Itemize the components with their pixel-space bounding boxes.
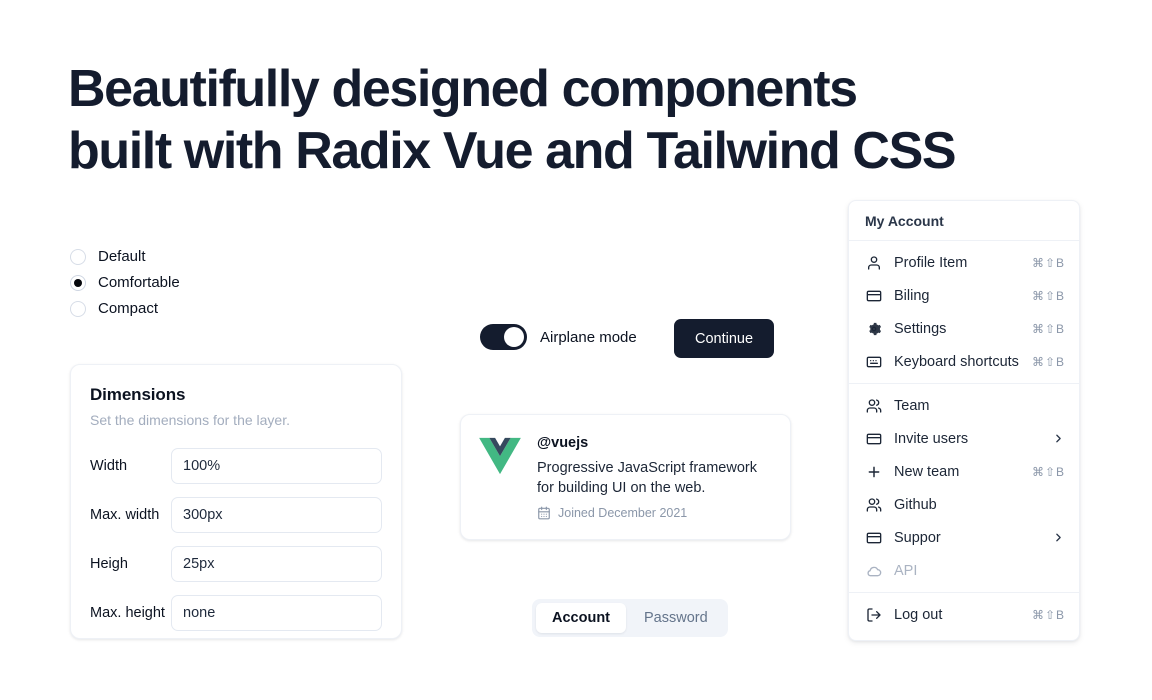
field-label: Max. width <box>90 507 171 523</box>
menu-item-keyboard-shortcuts[interactable]: Keyboard shortcuts ⌘⇧B <box>849 345 1079 378</box>
dimensions-row-max-height: Max. height <box>90 595 382 631</box>
vue-logo-icon <box>479 437 521 475</box>
menu-item-github[interactable]: Github <box>849 488 1079 521</box>
dimensions-field-list: Width Max. width Heigh Max. height <box>90 448 382 631</box>
menu-item-shortcut: ⌘⇧B <box>1032 256 1065 270</box>
radio-circle-checked-icon[interactable] <box>70 275 86 291</box>
menu-item-shortcut: ⌘⇧B <box>1032 608 1065 622</box>
field-label: Width <box>90 458 171 474</box>
menu-item-label: Keyboard shortcuts <box>894 354 1020 370</box>
users-icon <box>865 397 882 414</box>
dimensions-card: Dimensions Set the dimensions for the la… <box>70 364 402 639</box>
keyboard-icon <box>865 353 882 370</box>
menu-item-label: Invite users <box>894 431 1040 447</box>
radio-circle-icon[interactable] <box>70 249 86 265</box>
menu-item-invite-users[interactable]: Invite users <box>849 422 1079 455</box>
radio-option-default[interactable]: Default <box>70 248 180 265</box>
plus-icon <box>865 463 882 480</box>
page-title: Beautifully designed components built wi… <box>68 58 1028 182</box>
radio-option-label: Compact <box>98 300 158 317</box>
credit-card-icon <box>865 287 882 304</box>
hover-card-body: @vuejs Progressive JavaScript framework … <box>537 435 772 519</box>
radio-option-compact[interactable]: Compact <box>70 300 180 317</box>
page-title-line-2: built with Radix Vue and Tailwind CSS <box>68 120 1028 182</box>
menu-group-team: Team Invite users New team ⌘⇧B <box>849 384 1079 592</box>
airplane-mode-row: Airplane mode <box>480 324 637 350</box>
menu-item-label: Biling <box>894 288 1020 304</box>
menu-item-shortcut: ⌘⇧B <box>1032 465 1065 479</box>
user-icon <box>865 254 882 271</box>
menu-item-label: Profile Item <box>894 255 1020 271</box>
menu-item-new-team[interactable]: New team ⌘⇧B <box>849 455 1079 488</box>
max-height-input[interactable] <box>171 595 382 631</box>
menu-item-label: Github <box>894 497 1053 513</box>
settings-tabs: Account Password <box>532 599 728 637</box>
account-dropdown-menu: My Account Profile Item ⌘⇧B Biling ⌘⇧B <box>848 200 1080 641</box>
menu-item-shortcut: ⌘⇧B <box>1032 289 1065 303</box>
menu-item-profile[interactable]: Profile Item ⌘⇧B <box>849 246 1079 279</box>
chevron-right-icon <box>1052 432 1065 445</box>
tab-account[interactable]: Account <box>536 603 626 633</box>
field-label: Heigh <box>90 556 171 572</box>
menu-group-account: Profile Item ⌘⇧B Biling ⌘⇧B Settings ⌘⇧B <box>849 241 1079 383</box>
radio-option-comfortable[interactable]: Comfortable <box>70 274 180 291</box>
vuejs-hover-card: @vuejs Progressive JavaScript framework … <box>460 414 791 540</box>
menu-item-billing[interactable]: Biling ⌘⇧B <box>849 279 1079 312</box>
chevron-right-icon <box>1052 531 1065 544</box>
calendar-icon <box>537 506 551 520</box>
continue-button[interactable]: Continue <box>674 319 774 358</box>
dimensions-row-width: Width <box>90 448 382 484</box>
credit-card-icon <box>865 529 882 546</box>
airplane-mode-switch[interactable] <box>480 324 527 350</box>
menu-item-team[interactable]: Team <box>849 389 1079 422</box>
menu-item-api: API <box>849 554 1079 587</box>
radio-option-label: Default <box>98 248 146 265</box>
width-input[interactable] <box>171 448 382 484</box>
switch-knob <box>504 327 524 347</box>
dimensions-row-height: Heigh <box>90 546 382 582</box>
menu-item-shortcut: ⌘⇧B <box>1032 355 1065 369</box>
menu-item-log-out[interactable]: Log out ⌘⇧B <box>849 598 1079 631</box>
menu-item-support[interactable]: Suppor <box>849 521 1079 554</box>
vuejs-description: Progressive JavaScript framework for bui… <box>537 458 772 498</box>
menu-item-settings[interactable]: Settings ⌘⇧B <box>849 312 1079 345</box>
airplane-mode-label: Airplane mode <box>540 329 637 346</box>
height-input[interactable] <box>171 546 382 582</box>
logout-icon <box>865 606 882 623</box>
menu-group-session: Log out ⌘⇧B <box>849 593 1079 636</box>
menu-item-label: API <box>894 563 1053 579</box>
page-root: Beautifully designed components built wi… <box>0 0 1152 700</box>
menu-item-label: Log out <box>894 607 1020 623</box>
joined-row: Joined December 2021 <box>537 506 772 520</box>
joined-text: Joined December 2021 <box>558 506 687 520</box>
cloud-icon <box>865 562 882 579</box>
gear-icon <box>865 320 882 337</box>
tab-password[interactable]: Password <box>628 603 724 633</box>
radio-circle-icon[interactable] <box>70 301 86 317</box>
menu-header: My Account <box>849 201 1079 240</box>
menu-item-label: Team <box>894 398 1053 414</box>
menu-item-label: Settings <box>894 321 1020 337</box>
credit-card-icon <box>865 430 882 447</box>
field-label: Max. height <box>90 605 171 621</box>
density-radio-group: Default Comfortable Compact <box>70 248 180 317</box>
menu-item-label: Suppor <box>894 530 1040 546</box>
radio-option-label: Comfortable <box>98 274 180 291</box>
dimensions-title: Dimensions <box>90 385 382 405</box>
vuejs-handle: @vuejs <box>537 435 772 451</box>
max-width-input[interactable] <box>171 497 382 533</box>
menu-item-label: New team <box>894 464 1020 480</box>
dimensions-row-max-width: Max. width <box>90 497 382 533</box>
page-title-line-1: Beautifully designed components <box>68 58 1028 120</box>
menu-item-shortcut: ⌘⇧B <box>1032 322 1065 336</box>
users-icon <box>865 496 882 513</box>
dimensions-subtitle: Set the dimensions for the layer. <box>90 412 382 428</box>
